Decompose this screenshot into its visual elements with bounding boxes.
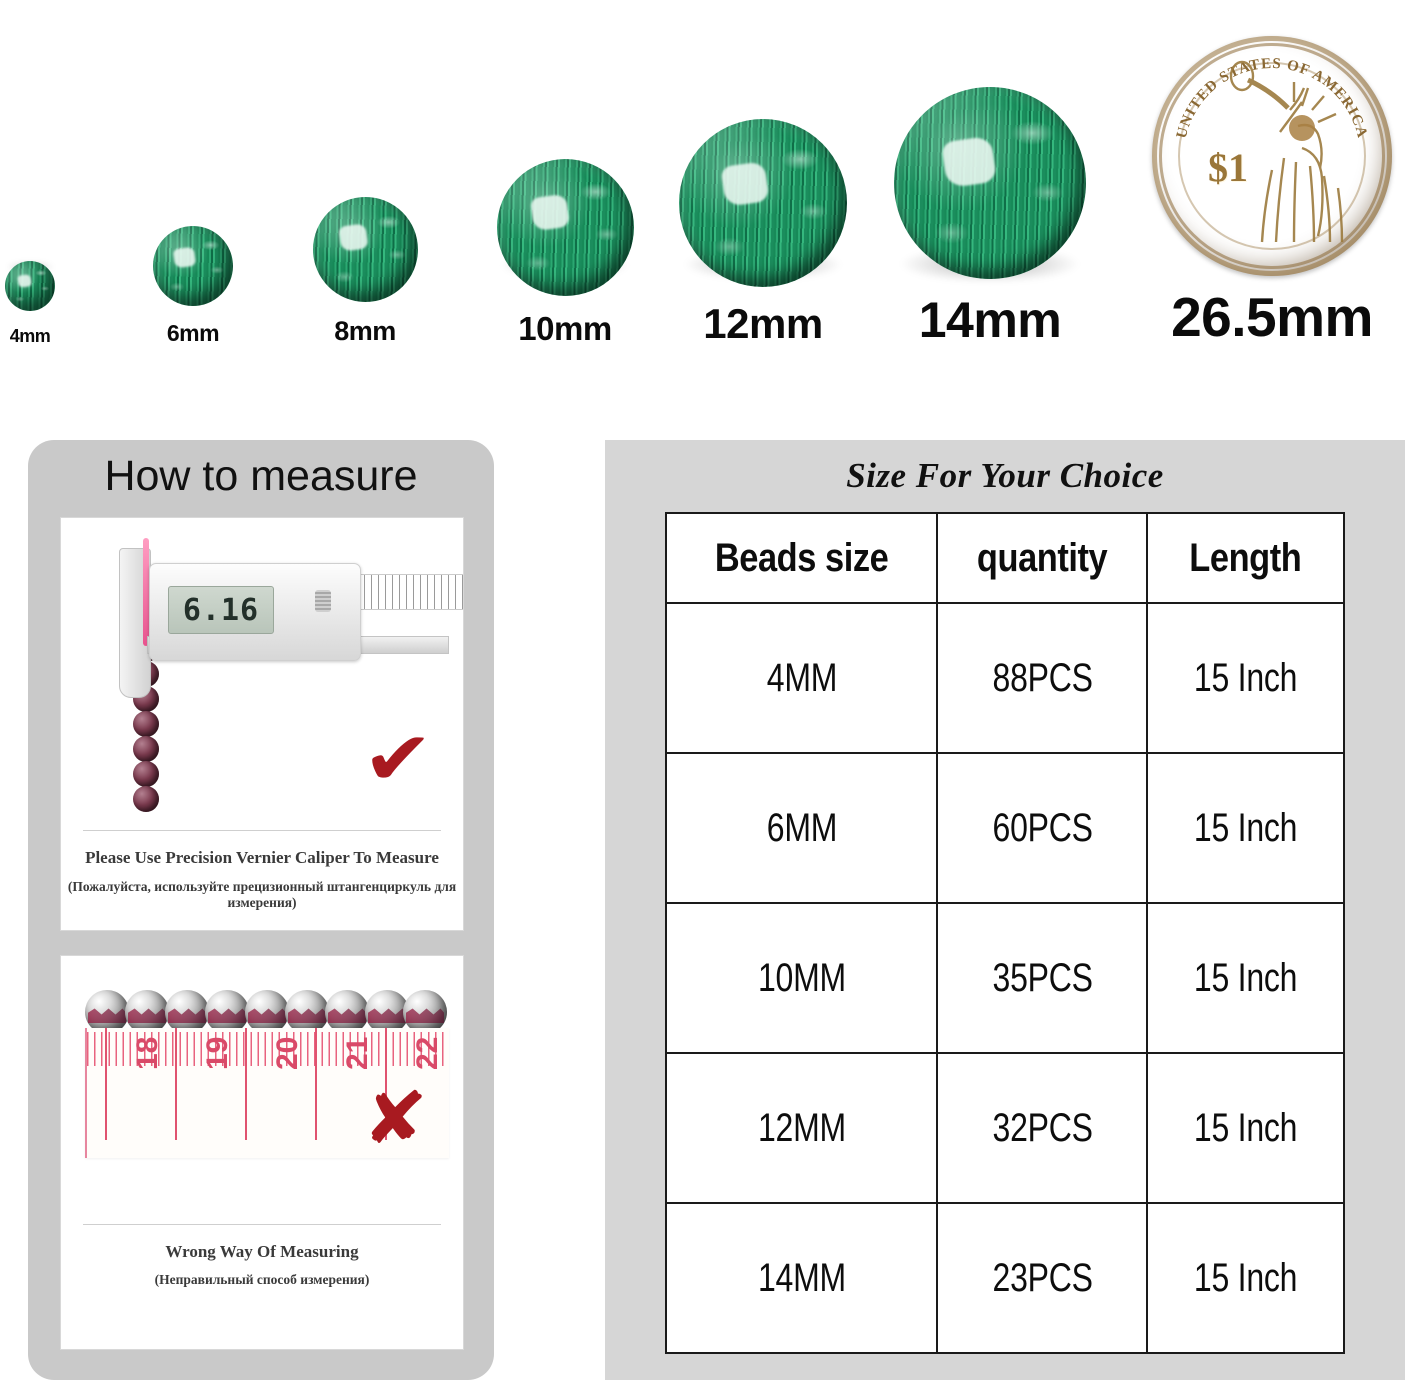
caliper-thumb-screw bbox=[315, 590, 331, 612]
bead-size-label: 6mm bbox=[167, 322, 219, 345]
coin-denomination: $1 bbox=[1208, 144, 1248, 191]
lower-section: How to measure 6.16 ✔ bbox=[0, 345, 1414, 1384]
cell-length: 15 Inch bbox=[1147, 903, 1344, 1053]
bead-size-label: 4mm bbox=[10, 327, 51, 345]
cell-quantity: 60PCS bbox=[937, 753, 1147, 903]
table-row: 4MM88PCS15 Inch bbox=[666, 603, 1344, 753]
cross-icon: ✘ bbox=[362, 1082, 428, 1154]
bead-size-label: 26.5mm bbox=[1171, 290, 1373, 345]
tape-number: 22 bbox=[411, 1037, 445, 1070]
how-to-measure-title: How to measure bbox=[28, 452, 494, 501]
cell-beads-size: 10MM bbox=[666, 903, 937, 1053]
bead-sample-4mm: 4mm bbox=[5, 261, 55, 345]
correct-caption-en: Please Use Precision Vernier Caliper To … bbox=[61, 848, 463, 868]
size-for-your-choice-panel: Size For Your Choice Beads size quantity… bbox=[605, 440, 1405, 1380]
divider bbox=[83, 1224, 441, 1225]
correct-caption-ru: (Пожалуйста, используйте прецизионный шт… bbox=[61, 879, 463, 911]
caliper-reading-value: 6.16 bbox=[183, 593, 259, 628]
bead-sample-12mm: 12mm bbox=[679, 119, 847, 345]
us-dollar-coin: UNITED STATES OF AMERICA$1 bbox=[1152, 36, 1392, 276]
cell-beads-size: 14MM bbox=[666, 1203, 937, 1353]
cell-length: 15 Inch bbox=[1147, 753, 1344, 903]
correct-measure-card: 6.16 ✔ Please Use Precision Vernier Cali… bbox=[60, 517, 464, 931]
wrong-caption-ru: (Неправильный способ измерения) bbox=[61, 1272, 463, 1288]
size-table: Beads size quantity Length 4MM88PCS15 In… bbox=[665, 512, 1345, 1354]
table-row: 6MM60PCS15 Inch bbox=[666, 753, 1344, 903]
malachite-bead bbox=[679, 119, 847, 287]
checkmark-icon: ✔ bbox=[362, 722, 433, 796]
cell-beads-size: 4MM bbox=[666, 603, 937, 753]
malachite-bead bbox=[5, 261, 55, 311]
bead-size-label: 14mm bbox=[919, 295, 1062, 345]
table-header-row: Beads size quantity Length bbox=[666, 513, 1344, 603]
cell-length: 15 Inch bbox=[1147, 1203, 1344, 1353]
coin-reference: UNITED STATES OF AMERICA$126.5mm bbox=[1152, 36, 1392, 345]
caliper-body: 6.16 bbox=[149, 563, 361, 661]
bead-size-label: 8mm bbox=[334, 318, 396, 345]
column-header-length: Length bbox=[1161, 513, 1330, 603]
cell-length: 15 Inch bbox=[1147, 603, 1344, 753]
tape-measure-illustration: 1819202122 ✘ bbox=[61, 962, 463, 1212]
bead-size-label: 10mm bbox=[518, 312, 611, 345]
bead-sample-6mm: 6mm bbox=[153, 226, 233, 345]
caliper-illustration: 6.16 ✔ bbox=[61, 518, 463, 818]
table-row: 12MM32PCS15 Inch bbox=[666, 1053, 1344, 1203]
column-header-quantity: quantity bbox=[952, 513, 1133, 603]
malachite-bead bbox=[497, 159, 634, 296]
cell-beads-size: 12MM bbox=[666, 1053, 937, 1203]
size-table-heading: Size For Your Choice bbox=[605, 456, 1405, 496]
tape-number: 19 bbox=[201, 1037, 235, 1070]
table-row: 10MM35PCS15 Inch bbox=[666, 903, 1344, 1053]
bead-size-comparison-row: 4mm6mm8mm10mm12mm14mmUNITED STATES OF AM… bbox=[0, 0, 1414, 345]
malachite-bead bbox=[894, 87, 1086, 279]
wrong-measure-card: 1819202122 ✘ Wrong Way Of Measuring (Неп… bbox=[60, 955, 464, 1350]
cell-quantity: 32PCS bbox=[937, 1053, 1147, 1203]
caliper-scale bbox=[356, 574, 464, 610]
svg-text:UNITED STATES OF AMERICA: UNITED STATES OF AMERICA bbox=[1174, 56, 1370, 140]
tape-number: 18 bbox=[131, 1037, 165, 1070]
divider bbox=[83, 830, 441, 831]
bead-sample-14mm: 14mm bbox=[894, 87, 1086, 345]
wrong-caption-en: Wrong Way Of Measuring bbox=[61, 1242, 463, 1262]
bead-sample-10mm: 10mm bbox=[497, 159, 634, 345]
how-to-measure-panel: How to measure 6.16 ✔ bbox=[28, 440, 494, 1380]
cell-beads-size: 6MM bbox=[666, 753, 937, 903]
column-header-beads-size: Beads size bbox=[685, 513, 918, 603]
cell-quantity: 88PCS bbox=[937, 603, 1147, 753]
cell-quantity: 35PCS bbox=[937, 903, 1147, 1053]
caliper-lcd-display: 6.16 bbox=[168, 586, 274, 634]
coin-engraving: UNITED STATES OF AMERICA bbox=[1152, 36, 1392, 276]
bead-size-label: 12mm bbox=[703, 303, 822, 345]
cell-quantity: 23PCS bbox=[937, 1203, 1147, 1353]
tape-number: 21 bbox=[341, 1037, 375, 1070]
malachite-bead bbox=[313, 197, 418, 302]
malachite-bead bbox=[153, 226, 233, 306]
cell-length: 15 Inch bbox=[1147, 1053, 1344, 1203]
bead-sample-8mm: 8mm bbox=[313, 197, 418, 345]
tape-number: 20 bbox=[271, 1037, 305, 1070]
table-row: 14MM23PCS15 Inch bbox=[666, 1203, 1344, 1353]
